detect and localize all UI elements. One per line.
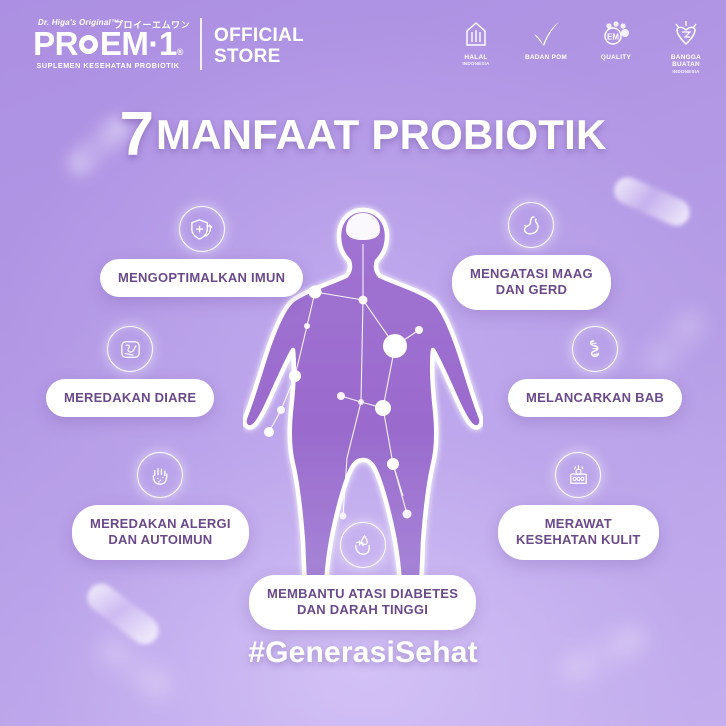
digestive-tract-icon	[572, 326, 618, 372]
badge-halal-sub: INDONESIA	[450, 61, 502, 66]
shield-plus-icon	[179, 206, 225, 252]
brand-logo: Dr. Higa's Original™ プロイーエムワン PR EM · 1 …	[28, 18, 188, 70]
registered-mark: ®	[177, 48, 183, 57]
benefit-label-line2: DAN AUTOIMUN	[90, 532, 231, 548]
header: Dr. Higa's Original™ プロイーエムワン PR EM · 1 …	[0, 0, 726, 96]
glucose-test-icon	[340, 522, 386, 568]
benefit-pill[interactable]: MEMBANTU ATASI DIABETES DAN DARAH TINGGI	[249, 575, 476, 630]
hashtag-label: #GenerasiSehat	[0, 636, 726, 670]
stomach-icon	[508, 202, 554, 248]
badge-bangga-buatan: BANGGA BUATAN INDONESIA	[660, 18, 712, 74]
badge-badan-pom: BADAN POM	[520, 18, 572, 61]
em-quality-icon: EM	[590, 18, 642, 52]
benefit-label-line2: DAN DARAH TINGGI	[267, 602, 458, 618]
halal-icon	[450, 18, 502, 52]
benefit-label-line2: KESEHATAN KULIT	[516, 532, 641, 548]
benefit-label-line1: MENGATASI MAAG	[470, 266, 593, 281]
badge-em-quality-name: QUALITY	[590, 54, 642, 61]
benefit-label-line1: MEREDAKAN DIARE	[64, 390, 196, 405]
header-divider	[200, 18, 202, 70]
benefit-label-line1: MENGOPTIMALKAN IMUN	[118, 270, 285, 285]
benefit-mengoptimalkan-imun[interactable]: MENGOPTIMALKAN IMUN	[100, 206, 303, 297]
hand-rash-icon	[137, 452, 183, 498]
benefit-membantu-atasi-diabetes[interactable]: MEMBANTU ATASI DIABETES DAN DARAH TINGGI	[249, 522, 476, 630]
benefit-label-line1: MEREDAKAN ALERGI	[90, 516, 231, 531]
badge-em-quality: EM QUALITY	[590, 18, 642, 61]
benefit-meredakan-alergi[interactable]: MEREDAKAN ALERGI DAN AUTOIMUN	[72, 452, 249, 560]
benefit-label-line1: MERAWAT	[545, 516, 612, 531]
official-store-label: OFFICIAL STORE	[214, 26, 304, 67]
skin-cells-icon	[555, 452, 601, 498]
intestine-icon	[107, 326, 153, 372]
badge-bangga-sub: INDONESIA	[660, 69, 712, 74]
benefit-melancarkan-bab[interactable]: MELANCARKAN BAB	[508, 326, 682, 417]
decor-capsule-2	[610, 173, 694, 230]
benefit-label-line1: MELANCARKAN BAB	[526, 390, 664, 405]
benefit-label-line2: DAN GERD	[470, 282, 593, 298]
benefit-merawat-kesehatan-kulit[interactable]: MERAWAT KESEHATAN KULIT	[498, 452, 659, 560]
brand-subtitle: SUPLEMEN KESEHATAN PROBIOTIK	[28, 61, 188, 70]
brand-name-dot: ·	[148, 28, 159, 59]
checkmark-icon	[520, 18, 572, 52]
brand-name-em: EM	[100, 28, 149, 59]
badge-badan-pom-name: BADAN POM	[520, 54, 572, 61]
poster-canvas: Dr. Higa's Original™ プロイーエムワン PR EM · 1 …	[0, 0, 726, 726]
benefit-label-line1: MEMBANTU ATASI DIABETES	[267, 586, 458, 601]
benefit-pill[interactable]: MERAWAT KESEHATAN KULIT	[498, 505, 659, 560]
page-title: 7MANFAAT PROBIOTIK	[0, 104, 726, 166]
brand-name-one: 1	[159, 28, 177, 59]
certification-badges: HALAL INDONESIA BADAN POM	[450, 18, 712, 74]
brand-japanese-text: プロイーエムワン	[114, 18, 190, 31]
benefit-pill[interactable]: MEREDAKAN ALERGI DAN AUTOIMUN	[72, 505, 249, 560]
badge-halal-name: HALAL	[450, 54, 502, 61]
brand-name: PR EM · 1 ®	[28, 28, 188, 59]
official-line-1: OFFICIAL	[214, 26, 304, 47]
badge-halal: HALAL INDONESIA	[450, 18, 502, 67]
svg-text:EM: EM	[607, 33, 619, 42]
official-line-2: STORE	[214, 47, 304, 68]
title-number: 7	[119, 100, 151, 169]
bangga-buatan-indonesia-icon	[660, 18, 712, 52]
benefit-pill[interactable]: MENGOPTIMALKAN IMUN	[100, 259, 303, 297]
brand-name-pr: PR	[33, 28, 78, 59]
benefit-pill[interactable]: MELANCARKAN BAB	[508, 379, 682, 417]
benefit-pill[interactable]: MEREDAKAN DIARE	[46, 379, 214, 417]
benefit-meredakan-diare[interactable]: MEREDAKAN DIARE	[46, 326, 214, 417]
benefit-mengatasi-maag[interactable]: MENGATASI MAAG DAN GERD	[452, 202, 611, 310]
title-words: MANFAAT PROBIOTIK	[156, 111, 607, 158]
badge-bangga-name: BANGGA BUATAN	[660, 54, 712, 69]
benefit-pill[interactable]: MENGATASI MAAG DAN GERD	[452, 255, 611, 310]
brand-logo-circle	[79, 35, 98, 54]
